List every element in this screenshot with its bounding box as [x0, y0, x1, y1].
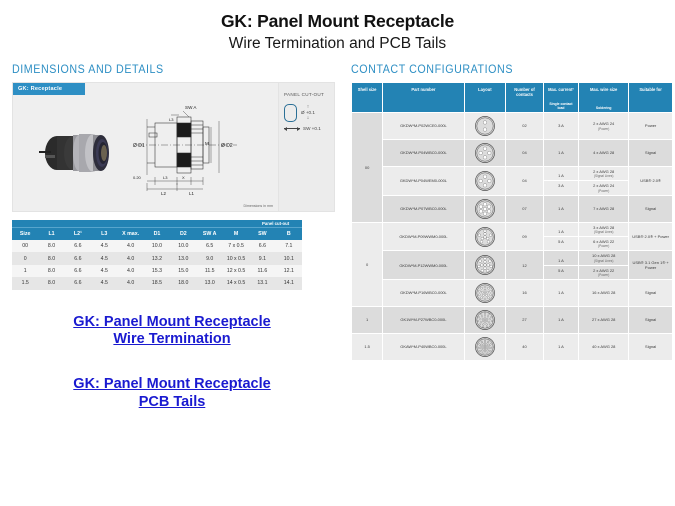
- dim-col-header-5: D1: [144, 228, 170, 241]
- dim-cell-9: 13.1: [249, 277, 275, 289]
- cc-max-wire-size: 7 x AWG 28: [579, 195, 629, 222]
- dimensions-section-heading: DIMENSIONS AND DETAILS: [12, 64, 322, 76]
- cc-shell-size: 1.5: [352, 334, 383, 361]
- dim-cell-2: 6.6: [65, 252, 91, 264]
- cc-layout-diagram: [464, 280, 506, 307]
- dim-cell-0: 00: [12, 240, 38, 252]
- cc-part-number: GKDW*M-P12WWM0-000L: [383, 251, 464, 280]
- dim-cell-10: 12.1: [276, 265, 302, 277]
- cc-shell-size: 0: [352, 222, 383, 306]
- dim-cell-8: 7 x 0.5: [223, 240, 249, 252]
- cc-max-current: 1 A3 A: [543, 167, 578, 196]
- cc-table-body: 00GKDW*M-P02WCE0-000L023 A2 x AWG 24(Pow…: [352, 113, 673, 361]
- dim-cell-6: 13.0: [170, 252, 196, 264]
- dim-col-header-2: L2¹: [65, 228, 91, 241]
- cc-suitable-for: USB® 2.0®: [629, 167, 673, 196]
- layout-9-contacts: [474, 226, 496, 248]
- dim-cell-1: 8.0: [38, 240, 64, 252]
- svg-text:L1: L1: [189, 191, 194, 196]
- dim-cell-9: 11.6: [249, 265, 275, 277]
- cc-suitable-for: USB® 2.0® + Power: [629, 222, 673, 251]
- dim-cell-1: 8.0: [38, 252, 64, 264]
- cc-shell-size: 1: [352, 307, 383, 334]
- svg-text:SW A: SW A: [185, 105, 197, 110]
- cc-part-number: GKDW*M-P16WBC0-000L: [383, 280, 464, 307]
- page-title: GK: Panel Mount Receptacle: [0, 11, 675, 33]
- panel-cutout-horizontal-dim: SW +0.1: [284, 126, 329, 131]
- contact-configurations-column: CONTACT CONFIGURATIONS Shell sizePart nu…: [345, 64, 675, 411]
- cc-number-of-contacts: 12: [506, 251, 544, 280]
- dim-cell-4: 4.0: [117, 240, 143, 252]
- dim-cell-8: 12 x 0.5: [223, 265, 249, 277]
- dim-col-header-1: L1: [38, 228, 64, 241]
- receptacle-drawing-panel: GK: Receptacle: [12, 82, 279, 212]
- cc-layout-diagram: [464, 140, 506, 167]
- cc-suitable-for: Signal: [629, 334, 673, 361]
- cc-max-current: 1 A: [543, 195, 578, 222]
- link-wire-termination-line2[interactable]: Wire Termination: [12, 331, 332, 349]
- dim-cell-8: 14 x 0.5: [223, 277, 249, 289]
- cc-table-row: GKDW*M-P12WWM0-000L121 A5 A10 x AWG 28(S…: [352, 251, 673, 280]
- dim-col-header-4: X max.: [117, 228, 143, 241]
- cc-max-current: 1 A: [543, 307, 578, 334]
- dim-col-header-7: SW A: [197, 228, 223, 241]
- dim-cell-3: 4.5: [91, 277, 117, 289]
- group-header-empty: [12, 220, 249, 228]
- svg-text:0.20: 0.20: [133, 175, 142, 180]
- cc-part-number: GKDW*M-P02WCE0-000L: [383, 113, 464, 140]
- dim-cell-5: 18.5: [144, 277, 170, 289]
- cc-part-number: GKDW*M-P04WBC0-000L: [383, 140, 464, 167]
- cc-part-number: GKDW*M-P04WEM0-000L: [383, 167, 464, 196]
- contact-configurations-heading: CONTACT CONFIGURATIONS: [351, 64, 652, 76]
- layout-4-contacts: [474, 142, 496, 164]
- layout-27-contacts: [474, 309, 496, 331]
- dim-cell-10: 10.1: [276, 252, 302, 264]
- cc-max-current: 1 A5 A: [543, 251, 578, 280]
- cc-suitable-for: USB® 3.1 Gen 1® + Power: [629, 251, 673, 280]
- cc-table-row: 0GKDW*M-P09WWM0-000L091 A5 A3 x AWG 28(S…: [352, 222, 673, 251]
- technical-drawing: Ø D1 Ø D2 M SW A L3 L2 L1 L3 X 0.20: [131, 97, 249, 205]
- cc-max-wire-size: 16 x AWG 28: [579, 280, 629, 307]
- dim-cell-7: 6.5: [197, 240, 223, 252]
- cc-layout-diagram: [464, 334, 506, 361]
- dim-cell-6: 15.0: [170, 265, 196, 277]
- cc-max-current: 1 A: [543, 280, 578, 307]
- cc-table-row: 1.5GKAW*M-P40WBC0-000L401 A40 x AWG 28Si…: [352, 334, 673, 361]
- cc-suitable-for: Power: [629, 113, 673, 140]
- cc-layout-diagram: [464, 195, 506, 222]
- cc-layout-diagram: [464, 167, 506, 196]
- svg-text:X: X: [182, 175, 185, 180]
- dim-cell-0: 1: [12, 265, 38, 277]
- dim-cell-10: 7.1: [276, 240, 302, 252]
- link-pcb-tails-line2[interactable]: PCB Tails: [12, 394, 332, 412]
- link-spacer: [12, 349, 332, 376]
- cc-max-current: 1 A: [543, 140, 578, 167]
- dim-col-header-10: B: [276, 228, 302, 241]
- dimensions-unit-note: Dimensions in mm: [243, 204, 273, 208]
- dimensions-table: Panel cut-out SizeL1L2¹L3X max.D1D2SW AM…: [12, 220, 302, 290]
- cc-sub-soldering: Soldering: [579, 106, 628, 110]
- svg-text:L3: L3: [169, 117, 174, 122]
- dim-cell-9: 9.1: [249, 252, 275, 264]
- content-columns: DIMENSIONS AND DETAILS GK: Receptacle: [0, 64, 675, 411]
- dim-cell-5: 10.0: [144, 240, 170, 252]
- svg-text:L3: L3: [163, 175, 168, 180]
- dim-cell-6: 10.0: [170, 240, 196, 252]
- dim-col-header-0: Size: [12, 228, 38, 241]
- cc-col-header-5: Max. wire sizeSoldering: [579, 83, 629, 113]
- cc-col-header-3: Number of contacts: [506, 83, 544, 113]
- dim-cell-10: 14.1: [276, 277, 302, 289]
- dim-cell-2: 6.6: [65, 240, 91, 252]
- horizontal-arrow-icon: [284, 128, 300, 129]
- cc-table-row: 00GKDW*M-P02WCE0-000L023 A2 x AWG 24(Pow…: [352, 113, 673, 140]
- dim-cell-0: 0: [12, 252, 38, 264]
- cc-max-wire-size: 40 x AWG 28: [579, 334, 629, 361]
- dim-cell-2: 6.6: [65, 265, 91, 277]
- dimensions-table-header-row: SizeL1L2¹L3X max.D1D2SW AMSWB: [12, 228, 302, 241]
- layout-12-contacts: [474, 254, 496, 276]
- svg-text:Ø D1: Ø D1: [133, 143, 145, 149]
- contact-configurations-table: Shell sizePart numberLayoutNumber of con…: [351, 82, 673, 361]
- cc-col-header-0: Shell size: [352, 83, 383, 113]
- cc-header-row: Shell sizePart numberLayoutNumber of con…: [352, 83, 673, 113]
- svg-text:Ø D2: Ø D2: [221, 143, 233, 149]
- cc-suitable-for: Signal: [629, 140, 673, 167]
- dim-cell-5: 13.2: [144, 252, 170, 264]
- dim-table-row: 08.06.64.54.013.213.09.010 x 0.59.110.1: [12, 252, 302, 264]
- cc-col-header-4: Max. current²Single contact load: [543, 83, 578, 113]
- link-pcb-tails-line1[interactable]: GK: Panel Mount Receptacle: [12, 376, 332, 394]
- cc-max-current: 3 A: [543, 113, 578, 140]
- cc-part-number: GKAW*M-P40WBC0-000L: [383, 334, 464, 361]
- dim-col-header-9: SW: [249, 228, 275, 241]
- group-header-panel-cutout: Panel cut-out: [249, 220, 302, 228]
- cc-max-current: 1 A5 A: [543, 222, 578, 251]
- dimensions-column: DIMENSIONS AND DETAILS GK: Receptacle: [0, 64, 345, 411]
- dim-cell-6: 18.0: [170, 277, 196, 289]
- dim-col-header-3: L3: [91, 228, 117, 241]
- cc-col-header-1: Part number: [383, 83, 464, 113]
- dim-table-row: 008.06.64.54.010.010.06.57 x 0.56.67.1: [12, 240, 302, 252]
- svg-text:M: M: [205, 141, 209, 146]
- dim-cell-3: 4.5: [91, 240, 117, 252]
- cc-number-of-contacts: 40: [506, 334, 544, 361]
- cc-table-row: GKDW*M-P16WBC0-000L161 A16 x AWG 28Signa…: [352, 280, 673, 307]
- link-wire-termination-line1[interactable]: GK: Panel Mount Receptacle: [12, 314, 332, 332]
- dim-cell-4: 4.0: [117, 277, 143, 289]
- page-subtitle: Wire Termination and PCB Tails: [0, 34, 675, 54]
- layout-40-contacts: [474, 336, 496, 358]
- cc-number-of-contacts: 02: [506, 113, 544, 140]
- dim-col-header-8: M: [223, 228, 249, 241]
- cc-max-wire-size: 10 x AWG 28(Signal Lines)2 x AWG 22(Powe…: [579, 251, 629, 280]
- dim-cell-2: 6.6: [65, 277, 91, 289]
- cc-col-header-6: Suitable for: [629, 83, 673, 113]
- dim-cell-4: 4.0: [117, 252, 143, 264]
- panel-cutout-sw-label: SW +0.1: [303, 126, 321, 131]
- cc-table-row: GKDW*M-P04WEM0-000L041 A3 A2 x AWG 28(Si…: [352, 167, 673, 196]
- cc-layout-diagram: [464, 251, 506, 280]
- dim-cell-1: 8.0: [38, 265, 64, 277]
- receptacle-photo: [35, 125, 127, 181]
- cc-part-number: GKDW*M-P07WBC0-000L: [383, 195, 464, 222]
- cc-number-of-contacts: 04: [506, 167, 544, 196]
- dim-cell-0: 1.5: [12, 277, 38, 289]
- cc-part-number: GKDW*M-P09WWM0-000L: [383, 222, 464, 251]
- page-title-block: GK: Panel Mount Receptacle Wire Terminat…: [0, 0, 675, 54]
- dimensions-table-body: 008.06.64.54.010.010.06.57 x 0.56.67.108…: [12, 240, 302, 290]
- panel-cutout-title: PANEL CUT-OUT: [284, 92, 329, 97]
- layout-7-contacts: [474, 198, 496, 220]
- dim-col-header-6: D2: [170, 228, 196, 241]
- dim-table-row: 1.58.06.64.54.018.518.013.014 x 0.513.11…: [12, 277, 302, 289]
- cc-layout-diagram: [464, 222, 506, 251]
- cc-table-row: GKDW*M-P04WBC0-000L041 A4 x AWG 28Signal: [352, 140, 673, 167]
- cc-max-wire-size: 27 x AWG 28: [579, 307, 629, 334]
- dim-cell-3: 4.5: [91, 252, 117, 264]
- dim-cell-7: 11.5: [197, 265, 223, 277]
- cc-layout-diagram: [464, 307, 506, 334]
- cc-number-of-contacts: 27: [506, 307, 544, 334]
- cc-part-number: GK1W*M-P27WBC0-000L: [383, 307, 464, 334]
- layout-2-contacts: [474, 115, 496, 137]
- svg-text:L2: L2: [161, 191, 166, 196]
- panel-cutout-vertical-dim: ↑ Ø +0.1 ↓: [301, 105, 315, 120]
- panel-cutout-box: PANEL CUT-OUT ↑ Ø +0.1 ↓ SW +0.1: [279, 82, 335, 212]
- cc-sub-single-contact-load: Single contact load: [544, 102, 578, 111]
- cc-suitable-for: Signal: [629, 195, 673, 222]
- dimensions-table-group-row: Panel cut-out: [12, 220, 302, 228]
- cc-max-wire-size: 4 x AWG 28: [579, 140, 629, 167]
- dim-cell-9: 6.6: [249, 240, 275, 252]
- cc-max-current: 1 A: [543, 334, 578, 361]
- receptacle-image-tag: GK: Receptacle: [13, 83, 85, 95]
- cc-suitable-for: Signal: [629, 280, 673, 307]
- dim-cell-7: 13.0: [197, 277, 223, 289]
- dim-cell-3: 4.5: [91, 265, 117, 277]
- cc-number-of-contacts: 07: [506, 195, 544, 222]
- cc-table-row: 1GK1W*M-P27WBC0-000L271 A27 x AWG 28Sign…: [352, 307, 673, 334]
- dim-cell-7: 9.0: [197, 252, 223, 264]
- cc-max-wire-size: 3 x AWG 28(Signal Lines)6 x AWG 22(Power…: [579, 222, 629, 251]
- cc-shell-size: 00: [352, 113, 383, 223]
- cc-number-of-contacts: 04: [506, 140, 544, 167]
- cc-number-of-contacts: 09: [506, 222, 544, 251]
- panel-cutout-shape-icon: [284, 104, 297, 122]
- document-links: GK: Panel Mount Receptacle Wire Terminat…: [12, 314, 332, 412]
- dim-cell-5: 15.3: [144, 265, 170, 277]
- dim-cell-1: 8.0: [38, 277, 64, 289]
- cc-suitable-for: Signal: [629, 307, 673, 334]
- cc-layout-diagram: [464, 113, 506, 140]
- cc-max-wire-size: 2 x AWG 24(Power): [579, 113, 629, 140]
- dim-cell-4: 4.0: [117, 265, 143, 277]
- dim-table-row: 18.06.64.54.015.315.011.512 x 0.511.612.…: [12, 265, 302, 277]
- layout-16-contacts: [474, 282, 496, 304]
- cc-table-row: GKDW*M-P07WBC0-000L071 A7 x AWG 28Signal: [352, 195, 673, 222]
- dimensions-image-panel: GK: Receptacle: [12, 82, 335, 212]
- layout-4-usb: [474, 170, 496, 192]
- cc-col-header-2: Layout: [464, 83, 506, 113]
- cc-number-of-contacts: 16: [506, 280, 544, 307]
- cc-max-wire-size: 2 x AWG 28(Signal Lines)2 x AWG 24(Power…: [579, 167, 629, 196]
- dim-cell-8: 10 x 0.5: [223, 252, 249, 264]
